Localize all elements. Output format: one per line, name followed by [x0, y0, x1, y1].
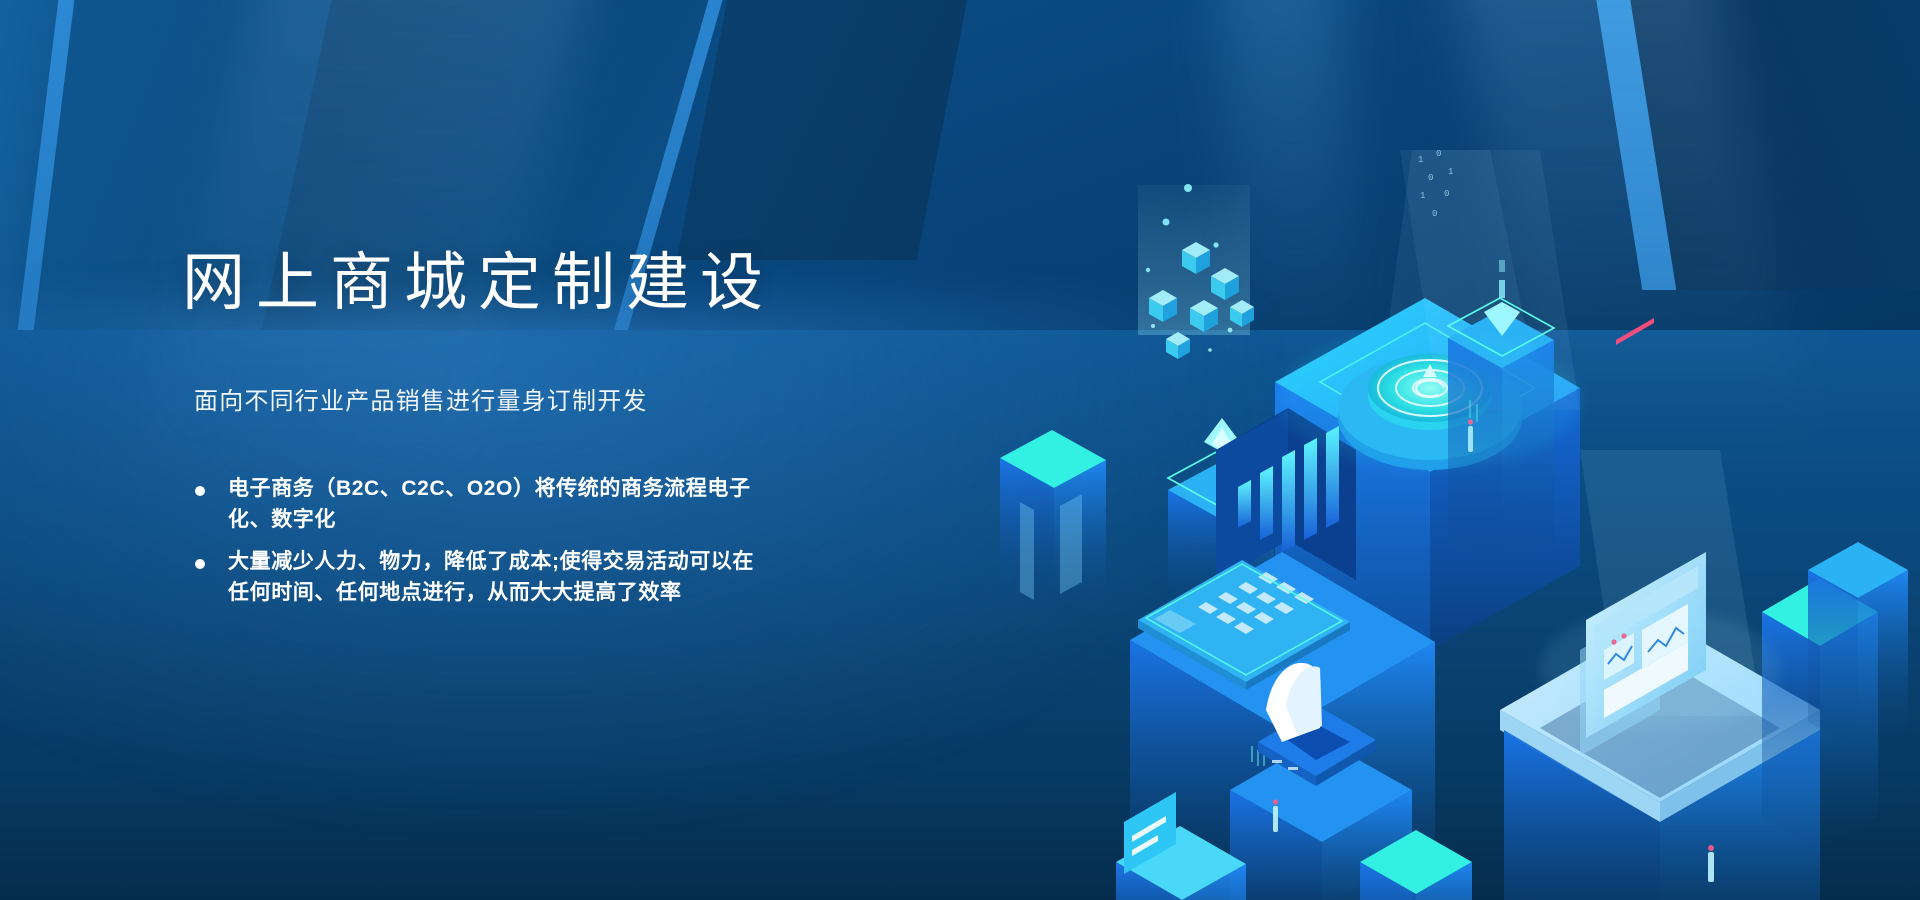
list-item: 大量减少人力、物力，降低了成本;使得交易活动可以在任何时间、任何地点进行，从而大… — [192, 547, 757, 608]
hero-text-block: 网上商城定制建设 面向不同行业产品销售进行量身订制开发 电子商务（B2C、C2C… — [182, 250, 882, 620]
hero-subtitle: 面向不同行业产品销售进行量身订制开发 — [194, 385, 882, 419]
bullet-text: 大量减少人力、物力，降低了成本;使得交易活动可以在任何时间、任何地点进行，从而大… — [228, 550, 754, 603]
wall-panel-4 — [677, 0, 975, 260]
bullet-text: 电子商务（B2C、C2C、O2O）将传统的商务流程电子化、数字化 — [228, 477, 751, 530]
list-item: 电子商务（B2C、C2C、O2O）将传统的商务流程电子化、数字化 — [192, 474, 757, 535]
isometric-illustration: 10 01 10 0 — [1020, 150, 1920, 850]
hero-banner: 10 01 10 0 — [0, 0, 1920, 900]
floating-cube — [1166, 332, 1190, 359]
page-title: 网上商城定制建设 — [182, 250, 882, 317]
cube-stream — [1138, 184, 1254, 359]
far-right-cube — [1808, 542, 1908, 750]
feature-bullet-list: 电子商务（B2C、C2C、O2O）将传统的商务流程电子化、数字化 大量减少人力、… — [192, 474, 882, 608]
bullet-dot-icon — [195, 486, 205, 496]
bullet-dot-icon — [195, 559, 205, 569]
cyan-pillar-left — [1000, 430, 1106, 620]
